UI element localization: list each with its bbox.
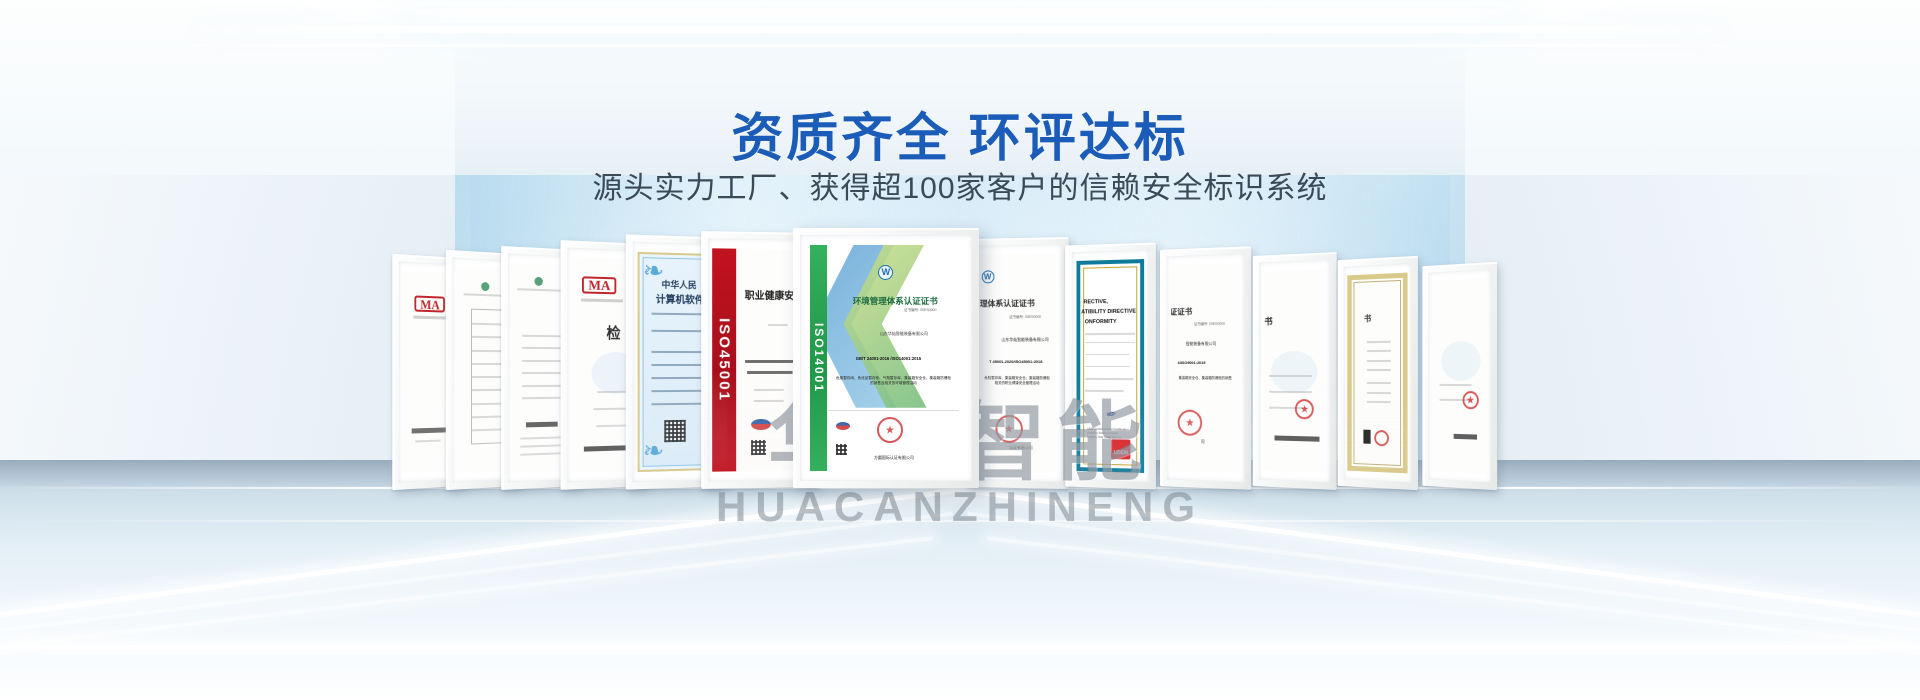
field-pub-date xyxy=(652,364,708,366)
field-right-type xyxy=(652,377,708,379)
ce-title-1: RECTIVE, xyxy=(1084,299,1108,305)
certificate-frame-iso45001-cn[interactable]: W 理体系认证证书 证书编号: 00ES0000 山东华灿智能装备有限公司 T … xyxy=(966,237,1068,489)
official-stamp xyxy=(877,417,903,443)
certificate-mat: ISO14001 W 环境管理体系认证证书 证书编号: 00ES0000 山东华… xyxy=(800,235,972,481)
qr-code xyxy=(836,444,847,455)
iso45001-side-bar: ISO45001 xyxy=(712,248,736,472)
certificate-mat: W 理体系认证证书 证书编号: 00ES0000 山东华灿智能装备有限公司 T … xyxy=(973,244,1062,482)
certificate-heading: 检 xyxy=(607,322,621,343)
field-dev-date xyxy=(652,351,708,353)
org-name xyxy=(526,422,558,428)
page-title: 资质齐全 环评达标 xyxy=(0,96,1920,171)
issuer-name: 方圆国际认证有限公司 xyxy=(874,455,914,461)
cert-title: 证证书 xyxy=(1171,306,1192,317)
certificate-frame-license[interactable]: 书 xyxy=(1253,252,1337,490)
udem-logo-icon: UDEM xyxy=(1111,439,1130,459)
field-line-2 xyxy=(522,347,563,349)
cove-light-strip-a xyxy=(299,8,1621,17)
cert-title-line1: 中华人民 xyxy=(662,278,697,292)
cert-footer-sub xyxy=(416,440,441,443)
official-stamp xyxy=(1295,399,1314,419)
qr-code xyxy=(751,440,766,455)
iso14001-label: ISO14001 xyxy=(812,323,826,393)
page-subtitle: 源头实力工厂、获得超100家客户的信赖安全标识系统 xyxy=(0,163,1920,207)
field-line-1 xyxy=(522,334,563,337)
cert-title: 书 xyxy=(1264,315,1272,328)
company-footer xyxy=(1274,435,1319,441)
certificate-paper: 证证书 证书编号: 00ES0000 智能装备有限公司 6/ISO9001:20… xyxy=(1171,263,1240,473)
certificate-paper: 书 xyxy=(1263,269,1325,474)
light-streak-horizon xyxy=(0,645,1920,649)
cma-badge-icon: MA xyxy=(415,295,445,312)
floor-edge-line-2 xyxy=(0,520,1920,522)
issuer-name: 认证有限公司 xyxy=(1009,445,1033,451)
cove-light-strip-b xyxy=(200,26,1720,33)
issuer-name: UDEM International Certification Auditin… xyxy=(1087,427,1129,440)
certificate-paper: ISO14001 W 环境管理体系认证证书 证书编号: 00ES0000 山东华… xyxy=(810,245,961,471)
certificate-mat: RECTIVE, ATIBILITY DIRECTIVE ONFORMITY ✒… xyxy=(1072,250,1149,482)
banner-stage: 资质齐全 环评达标 源头实力工厂、获得超100家客户的信赖安全标识系统 MA xyxy=(0,0,1920,700)
certificate-paper: 书 xyxy=(1348,272,1407,474)
scope-text: 危废暂存间、危化品暂存柜、气瓶暂存库、集装箱安全仓、集装箱防爆柜的销售及相关的环… xyxy=(835,376,953,387)
company-name: 山东华灿智能装备有限公司 xyxy=(1001,337,1048,343)
certificate-frame-iso14001[interactable]: ISO14001 W 环境管理体系认证证书 证书编号: 00ES0000 山东华… xyxy=(793,228,979,488)
iso45001-label: ISO45001 xyxy=(716,318,733,402)
certificate-frame-gold[interactable]: 书 xyxy=(1338,256,1418,490)
certificate-frame-plain-right[interactable] xyxy=(1422,262,1497,491)
lab-logo-icon xyxy=(481,282,489,291)
official-stamp xyxy=(995,415,1023,443)
certificate-wall: MA xyxy=(0,228,1920,488)
field-line-6 xyxy=(522,397,563,400)
field-right-scope xyxy=(652,390,708,392)
company-footer xyxy=(1454,434,1477,440)
cert-title: 理体系认证证书 xyxy=(980,298,1035,310)
iso14001-title: 环境管理体系认证证书 xyxy=(853,295,938,307)
company-name: 智能装备有限公司 xyxy=(1186,341,1216,347)
watermark-shape xyxy=(1442,341,1481,381)
field-line-4 xyxy=(522,372,563,374)
field-line-5 xyxy=(522,384,563,386)
company-name: 山东华灿智能装备有限公司 xyxy=(880,331,928,337)
certificate-frame-iso9001-cn[interactable]: 证证书 证书编号: 00ES0000 智能装备有限公司 6/ISO9001:20… xyxy=(1160,246,1251,490)
certificate-mat: 书 xyxy=(1344,263,1412,482)
cma-badge-icon: MA xyxy=(582,277,616,295)
official-stamp xyxy=(1178,409,1202,435)
field-line-3 xyxy=(522,360,563,362)
field-owner xyxy=(652,330,708,332)
ce-title-2: ATIBILITY DIRECTIVE xyxy=(1081,309,1136,316)
standard-text: 6/ISO9001:2015 xyxy=(1178,360,1206,365)
floor xyxy=(0,460,1920,700)
standard-text: GB/T 24001-2016 /ISO14001:2015 xyxy=(856,356,921,361)
cert-number: 证书编号: 00ES0000 xyxy=(1194,322,1225,327)
certificate-paper xyxy=(1432,278,1487,474)
cert-title-line2: 计算机软件 xyxy=(656,291,705,307)
certifier-seal-icon: W xyxy=(981,270,994,283)
qr-code xyxy=(665,420,686,442)
watermark-shape xyxy=(1270,351,1317,393)
cert-number: 证书编号: 00ES0000 xyxy=(904,308,936,313)
cert-number: 证书编号: 00ES0000 xyxy=(1009,315,1041,320)
scope-text: 危险暂存库、集装箱安全仓、集装箱防爆柜相关的职业健康安全管理活动 xyxy=(984,376,1050,387)
lab-logo-icon xyxy=(534,276,542,285)
official-stamp xyxy=(1374,430,1389,446)
certificate-mat xyxy=(1428,269,1490,483)
standard-text: T 45001-2020/ISO45001:2018 xyxy=(989,359,1042,364)
iso14001-side-bar: ISO14001 xyxy=(810,245,827,471)
cert-title: 书 xyxy=(1364,313,1371,324)
cnas-accreditation-icon xyxy=(751,418,773,431)
certificate-paper: W 理体系认证证书 证书编号: 00ES0000 山东华灿智能装备有限公司 T … xyxy=(978,254,1056,472)
issuer-name: 司 xyxy=(1201,439,1205,445)
certificate-frame-ce-emc[interactable]: RECTIVE, ATIBILITY DIRECTIVE ONFORMITY ✒… xyxy=(1065,242,1156,489)
cma-badge-sub xyxy=(581,298,623,302)
ceiling-edge-line xyxy=(0,44,1920,47)
certificate-mat: 证证书 证书编号: 00ES0000 智能装备有限公司 6/ISO9001:20… xyxy=(1166,254,1244,483)
ce-title-3: ONFORMITY xyxy=(1085,319,1117,325)
scope-text: 集装箱安全仓、集装箱防爆柜的销售 xyxy=(1176,376,1234,381)
official-stamp xyxy=(1462,391,1478,409)
certificate-paper: RECTIVE, ATIBILITY DIRECTIVE ONFORMITY ✒… xyxy=(1076,259,1144,473)
cnas-accreditation-icon xyxy=(835,421,851,431)
certificate-mat: 书 xyxy=(1259,259,1330,482)
